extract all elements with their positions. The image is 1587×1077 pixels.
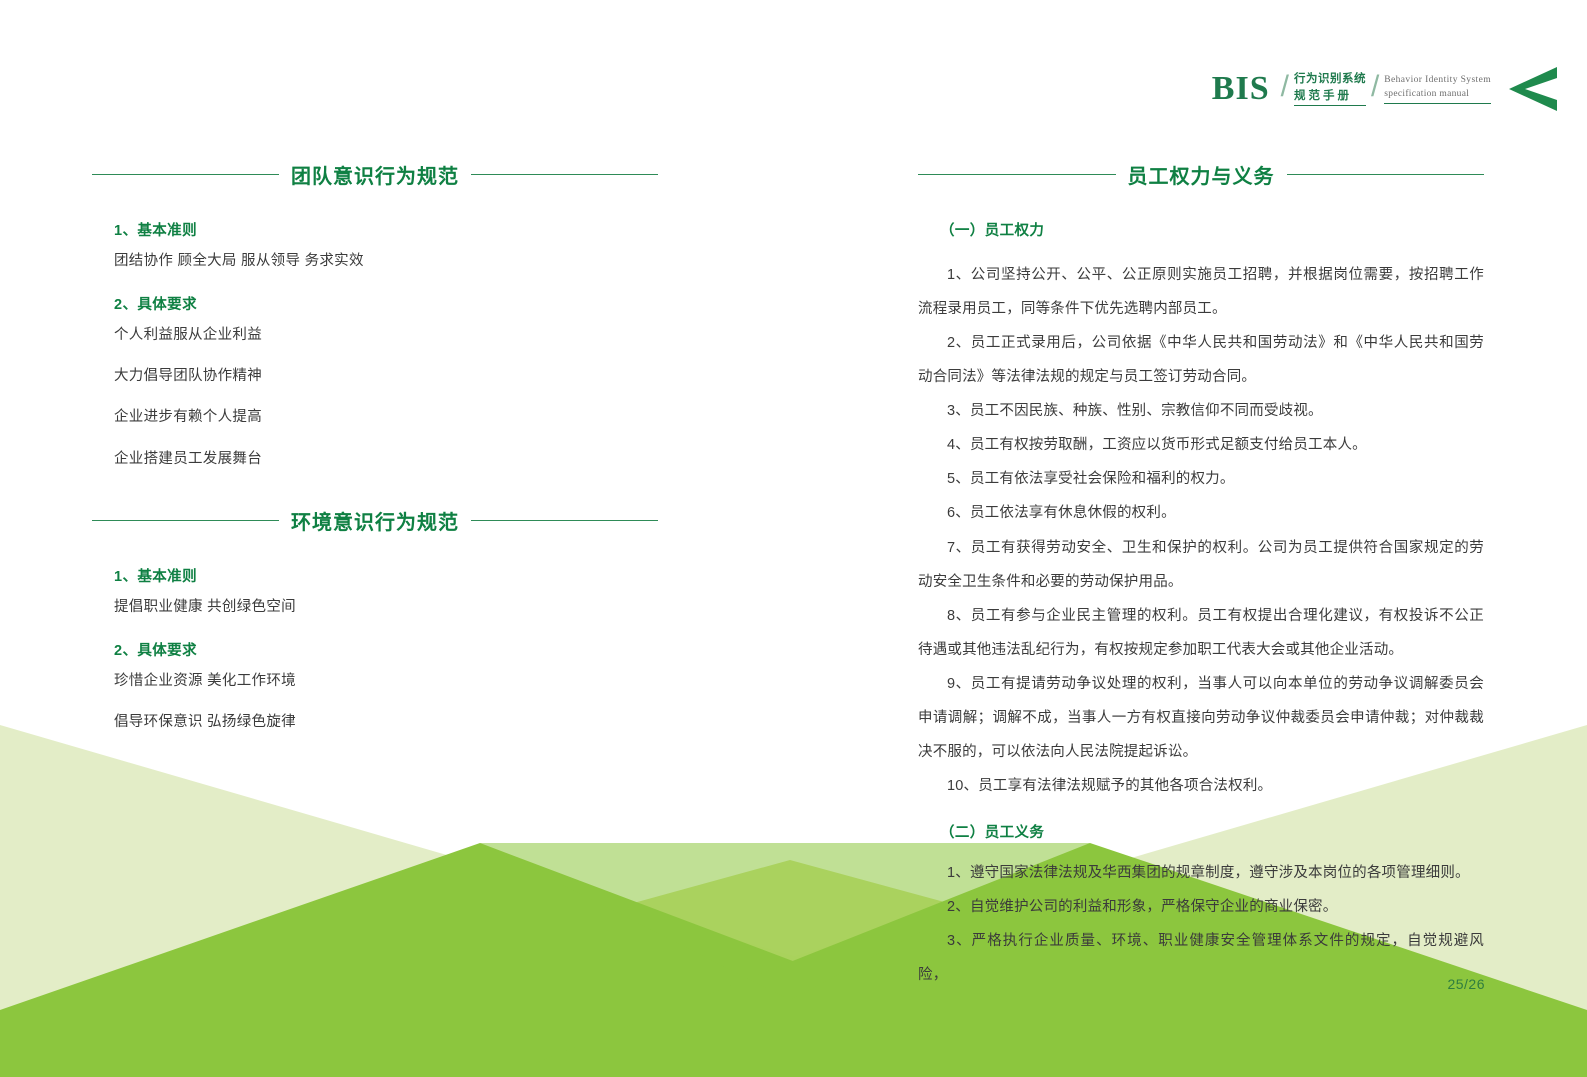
brochure-page: BIS / 行为识别系统 规范手册 / Behavior Identity Sy… (0, 0, 1587, 1077)
brand-chinese-title: 行为识别系统 规范手册 (1294, 72, 1366, 106)
list-item: 9、员工有提请劳动争议处理的权利，当事人可以向本单位的劳动争议调解委员会申请调解… (918, 667, 1484, 769)
group-heading-duties: （二）员工义务 (940, 821, 1484, 842)
section-heading-text: 环境意识行为规范 (279, 506, 471, 535)
brand-header: BIS / 行为识别系统 规范手册 / Behavior Identity Sy… (1212, 58, 1559, 120)
list-item: 2、员工正式录用后，公司依据《中华人民共和国劳动法》和《中华人民共和国劳动合同法… (918, 326, 1484, 394)
body-line: 提倡职业健康 共创绿色空间 (114, 598, 658, 616)
title-rule-left (918, 174, 1116, 175)
list-item: 6、员工依法享有休息休假的权利。 (918, 496, 1484, 530)
sub-heading: 1、基本准则 (114, 219, 658, 240)
list-item: 7、员工有获得劳动安全、卫生和保护的权利。公司为员工提供符合国家规定的劳动安全卫… (918, 531, 1484, 599)
body-line: 团结协作 顾全大局 服从领导 务求实效 (114, 252, 658, 270)
list-item: 3、严格执行企业质量、环境、职业健康安全管理体系文件的规定，自觉规避风险， (918, 924, 1484, 992)
title-rule-right (471, 520, 658, 521)
body-line: 个人利益服从企业利益 (114, 326, 658, 344)
brand-separator-2: / (1371, 72, 1379, 102)
list-item: 3、员工不因民族、种族、性别、宗教信仰不同而受歧视。 (918, 394, 1484, 428)
brand-en-line-1: Behavior Identity System (1384, 74, 1491, 86)
section-title-team: 团队意识行为规范 (92, 160, 658, 189)
title-rule-right (471, 174, 658, 175)
list-item: 1、公司坚持公开、公平、公正原则实施员工招聘，并根据岗位需要，按招聘工作流程录用… (918, 258, 1484, 326)
list-item: 5、员工有依法享受社会保险和福利的权力。 (918, 462, 1484, 496)
block-env-requirements: 2、具体要求 珍惜企业资源 美化工作环境 倡导环保意识 弘扬绿色旋律 (92, 639, 658, 731)
body-line: 企业搭建员工发展舞台 (114, 450, 658, 468)
title-rule-right (1287, 174, 1485, 175)
section-title-environment: 环境意识行为规范 (92, 506, 658, 535)
body-line: 珍惜企业资源 美化工作环境 (114, 672, 658, 690)
title-rule-left (92, 520, 279, 521)
brand-en-line-2: specification manual (1384, 88, 1491, 104)
body-line: 倡导环保意识 弘扬绿色旋律 (114, 713, 658, 731)
list-item: 10、员工享有法律法规赋予的其他各项合法权利。 (918, 769, 1484, 803)
sub-heading: 2、具体要求 (114, 639, 658, 660)
section-title-employee-rights: 员工权力与义务 (918, 160, 1484, 189)
brand-separator-1: / (1281, 72, 1289, 102)
brand-bis-logo: BIS (1212, 72, 1276, 106)
chevron-left-icon (1507, 65, 1559, 113)
brand-cn-line-2: 规范手册 (1294, 89, 1366, 106)
block-team-principles: 1、基本准则 团结协作 顾全大局 服从领导 务求实效 (92, 219, 658, 270)
sub-heading: 2、具体要求 (114, 293, 658, 314)
list-item: 1、遵守国家法律法规及华西集团的规章制度，遵守涉及本岗位的各项管理细则。 (918, 856, 1484, 890)
block-team-requirements: 2、具体要求 个人利益服从企业利益 大力倡导团队协作精神 企业进步有赖个人提高 … (92, 293, 658, 468)
group-heading-rights: （一）员工权力 (940, 219, 1484, 240)
page-number: 25/26 (1447, 976, 1485, 992)
body-line: 大力倡导团队协作精神 (114, 367, 658, 385)
section-heading-text: 员工权力与义务 (1116, 160, 1287, 189)
body-line: 企业进步有赖个人提高 (114, 408, 658, 426)
sub-heading: 1、基本准则 (114, 565, 658, 586)
list-item: 2、自觉维护公司的利益和形象，严格保守企业的商业保密。 (918, 890, 1484, 924)
list-item: 4、员工有权按劳取酬，工资应以货币形式足额支付给员工本人。 (918, 428, 1484, 462)
brand-cn-line-1: 行为识别系统 (1294, 72, 1366, 86)
left-column: 团队意识行为规范 1、基本准则 团结协作 顾全大局 服从领导 务求实效 2、具体… (92, 160, 658, 754)
list-item: 8、员工有参与企业民主管理的权利。员工有权提出合理化建议，有权投诉不公正待遇或其… (918, 599, 1484, 667)
block-env-principles: 1、基本准则 提倡职业健康 共创绿色空间 (92, 565, 658, 616)
title-rule-left (92, 174, 279, 175)
right-column: 员工权力与义务 （一）员工权力 1、公司坚持公开、公平、公正原则实施员工招聘，并… (918, 160, 1484, 992)
brand-english-title: Behavior Identity System specification m… (1384, 74, 1491, 104)
section-heading-text: 团队意识行为规范 (279, 160, 471, 189)
